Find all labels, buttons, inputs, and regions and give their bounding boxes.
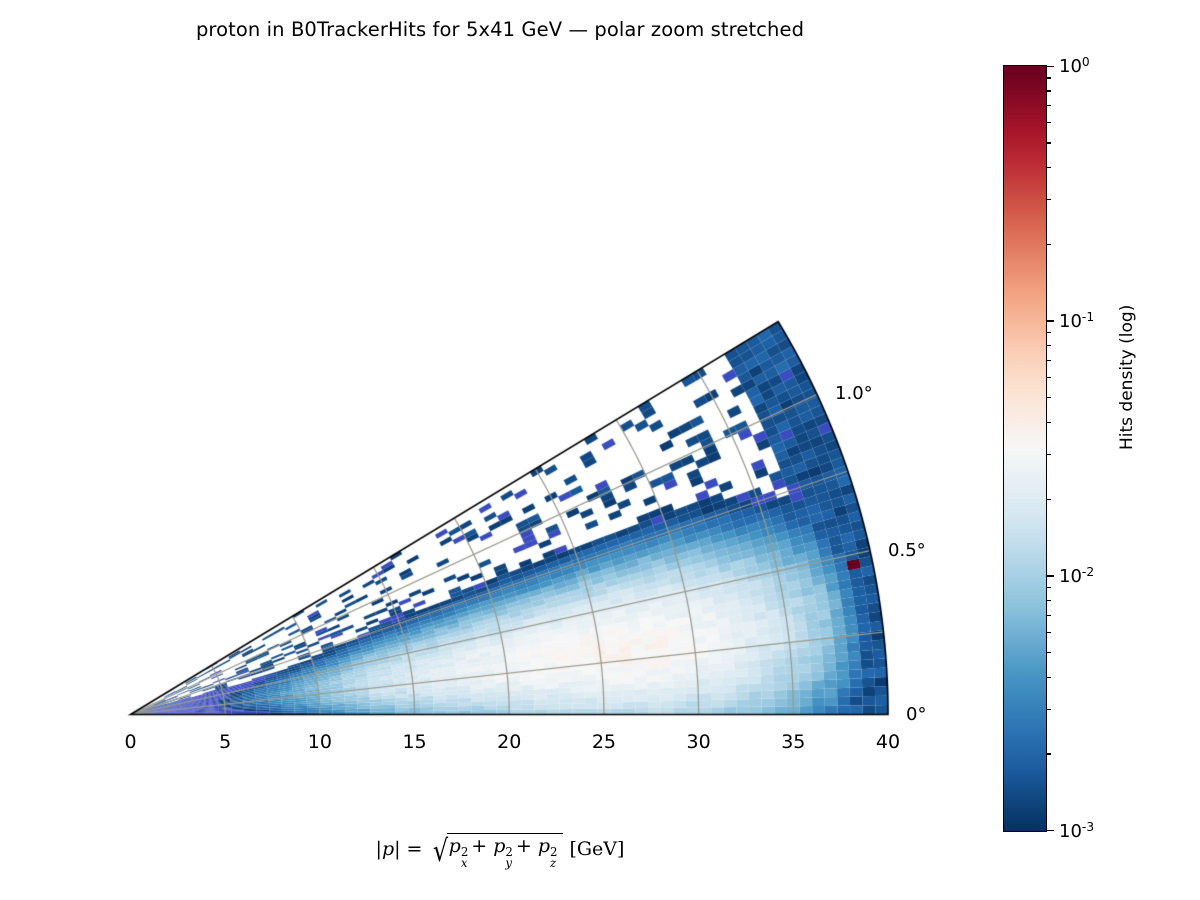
pz-subscript: z xyxy=(550,856,556,870)
colorbar-tick-mantissa: 10 xyxy=(1059,56,1082,77)
colorbar-minor-tick xyxy=(1047,454,1051,455)
colorbar-tick-label: 10-3 xyxy=(1059,820,1094,842)
colorbar-major-tick xyxy=(1047,830,1054,831)
py-scripts: 2y xyxy=(505,835,515,857)
xlabel-lhs: |p| = xyxy=(376,838,423,860)
colorbar-minor-tick xyxy=(1047,345,1051,346)
colorbar-minor-tick xyxy=(1047,199,1051,200)
colorbar-minor-tick xyxy=(1047,499,1051,500)
colorbar-minor-tick xyxy=(1047,709,1051,710)
term-py: p xyxy=(493,835,505,857)
radial-tick-0: 0 xyxy=(101,731,161,753)
colorbar-minor-tick xyxy=(1047,677,1051,678)
radial-tick-15: 15 xyxy=(385,731,445,753)
plus-1: + xyxy=(471,835,487,857)
colorbar-major-tick xyxy=(1047,575,1054,576)
radicand: p2x+ p2y+ p2z xyxy=(447,833,564,857)
radial-tick-30: 30 xyxy=(669,731,729,753)
xlabel-units: [GeV] xyxy=(569,838,624,860)
figure-root: proton in B0TrackerHits for 5x41 GeV — p… xyxy=(0,0,1200,900)
radial-tick-35: 35 xyxy=(763,731,823,753)
colorbar-tick-mantissa: 10 xyxy=(1059,311,1082,332)
colorbar-tick-label: 100 xyxy=(1059,55,1090,77)
colorbar-minor-tick xyxy=(1047,167,1051,168)
angular-tick-1.0deg: 1.0° xyxy=(835,383,873,404)
colorbar-minor-tick xyxy=(1047,632,1051,633)
colorbar-minor-tick xyxy=(1047,422,1051,423)
colorbar-minor-tick xyxy=(1047,90,1051,91)
radial-tick-40: 40 xyxy=(858,731,918,753)
colorbar-major-tick xyxy=(1047,320,1054,321)
colorbar-outline xyxy=(1003,65,1047,832)
radial-tick-5: 5 xyxy=(195,731,255,753)
radial-tick-25: 25 xyxy=(574,731,634,753)
sqrt-expression: √p2x+ p2y+ p2z xyxy=(429,836,564,867)
px-scripts: 2x xyxy=(461,835,471,857)
plus-2: + xyxy=(516,835,532,857)
colorbar-minor-tick xyxy=(1047,615,1051,616)
colorbar-minor-tick xyxy=(1047,753,1051,754)
colorbar-minor-tick xyxy=(1047,397,1051,398)
py-subscript: y xyxy=(505,856,512,870)
term-px: p xyxy=(449,835,461,857)
angular-tick-0deg: 0° xyxy=(906,704,926,725)
colorbar-minor-tick xyxy=(1047,105,1051,106)
colorbar-minor-tick xyxy=(1047,142,1051,143)
colorbar-minor-tick xyxy=(1047,377,1051,378)
px-subscript: x xyxy=(461,856,468,870)
page-title: proton in B0TrackerHits for 5x41 GeV — p… xyxy=(0,18,1000,41)
colorbar-tick-exponent: -1 xyxy=(1082,310,1094,324)
pz-scripts: 2z xyxy=(550,835,560,857)
radial-tick-20: 20 xyxy=(479,731,539,753)
colorbar-tick-exponent: -3 xyxy=(1082,820,1094,834)
colorbar-minor-tick xyxy=(1047,332,1051,333)
colorbar-tick-exponent: -2 xyxy=(1082,565,1094,579)
colorbar-minor-tick xyxy=(1047,244,1051,245)
angular-tick-0.5deg: 0.5° xyxy=(888,540,926,561)
colorbar-minor-tick xyxy=(1047,360,1051,361)
colorbar-minor-tick xyxy=(1047,600,1051,601)
sqrt-symbol: √ xyxy=(432,837,447,867)
colorbar-minor-tick xyxy=(1047,587,1051,588)
colorbar-tick-label: 10-1 xyxy=(1059,310,1094,332)
colorbar-minor-tick xyxy=(1047,77,1051,78)
colorbar-tick-mantissa: 10 xyxy=(1059,566,1082,587)
colorbar-tick-label: 10-2 xyxy=(1059,565,1094,587)
colorbar-label: Hits density (log) xyxy=(1117,305,1137,450)
colorbar-minor-tick xyxy=(1047,652,1051,653)
colorbar-minor-tick xyxy=(1047,122,1051,123)
colorbar-tick-exponent: 0 xyxy=(1082,55,1090,69)
term-pz: p xyxy=(538,835,550,857)
x-axis-label: |p| = √p2x+ p2y+ p2z [GeV] xyxy=(0,836,1000,867)
colorbar-tick-mantissa: 10 xyxy=(1059,821,1082,842)
radial-tick-10: 10 xyxy=(290,731,350,753)
colorbar-major-tick xyxy=(1047,66,1054,67)
